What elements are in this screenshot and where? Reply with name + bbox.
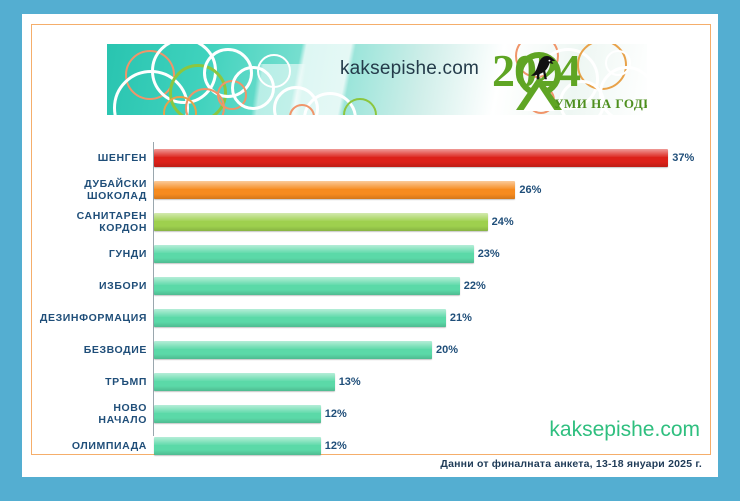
bar-value-label: 37%	[672, 149, 694, 167]
bar-shade	[154, 194, 515, 199]
bar-row: ШЕНГЕН37%	[31, 142, 711, 174]
bar-value-label: 22%	[464, 277, 486, 295]
bar-wrapper: 12%	[154, 437, 321, 455]
bar-gloss	[154, 373, 335, 381]
banner-site-title: kaksepishe.com	[340, 58, 479, 80]
bar-shade	[154, 354, 432, 359]
bar-row: ТРЪМП13%	[31, 366, 711, 398]
bar-value-label: 26%	[519, 181, 541, 199]
bar[interactable]	[154, 245, 474, 263]
bar-shade	[154, 162, 668, 167]
bar-shade	[154, 450, 321, 455]
bar[interactable]	[154, 309, 446, 327]
bar-category-label: ТРЪМП	[31, 366, 147, 398]
bar[interactable]	[154, 277, 460, 295]
logo-triangle-inner	[523, 87, 555, 111]
bar-wrapper: 24%	[154, 213, 488, 231]
bar-shade	[154, 258, 474, 263]
bar-value-label: 24%	[492, 213, 514, 231]
bar-wrapper: 22%	[154, 277, 460, 295]
bar-category-label: НОВОНАЧАЛО	[31, 398, 147, 430]
bar-category-label: БЕЗВОДИЕ	[31, 334, 147, 366]
bar-wrapper: 21%	[154, 309, 446, 327]
bar-gloss	[154, 309, 446, 317]
bar-row: САНИТАРЕНКОРДОН24%	[31, 206, 711, 238]
bar-row: ДУБАЙСКИШОКОЛАД26%	[31, 174, 711, 206]
bar-wrapper: 20%	[154, 341, 432, 359]
bar-gloss	[154, 277, 460, 285]
bar-wrapper: 13%	[154, 373, 335, 391]
bar[interactable]	[154, 181, 515, 199]
bar-shade	[154, 386, 335, 391]
bar[interactable]	[154, 213, 488, 231]
bar-row: ДЕЗИНФОРМАЦИЯ21%	[31, 302, 711, 334]
bar-gloss	[154, 245, 474, 253]
bar[interactable]	[154, 341, 432, 359]
bar-category-label: ИЗБОРИ	[31, 270, 147, 302]
words-of-the-year-logo[interactable]: 2024 УМИ НА ГОДИНАТА	[492, 46, 647, 115]
bar[interactable]	[154, 149, 668, 167]
bar-row: ГУНДИ23%	[31, 238, 711, 270]
bar-row: ИЗБОРИ22%	[31, 270, 711, 302]
bar-shade	[154, 290, 460, 295]
bar[interactable]	[154, 373, 335, 391]
bar-gloss	[154, 181, 515, 189]
bird-icon	[520, 52, 564, 88]
bar[interactable]	[154, 437, 321, 455]
bar-value-label: 23%	[478, 245, 500, 263]
bar-gloss	[154, 341, 432, 349]
bar-wrapper: 37%	[154, 149, 668, 167]
bar-value-label: 12%	[325, 405, 347, 423]
bar-shade	[154, 226, 488, 231]
bar-wrapper: 26%	[154, 181, 515, 199]
bar-gloss	[154, 213, 488, 221]
footer-brand[interactable]: kaksepishe.com	[549, 418, 700, 442]
footer-source-note: Данни от финалната анкета, 13-18 януари …	[440, 458, 702, 470]
bar-row: БЕЗВОДИЕ20%	[31, 334, 711, 366]
bar[interactable]	[154, 405, 321, 423]
bar-value-label: 20%	[436, 341, 458, 359]
decor-circle	[257, 54, 291, 88]
bar-shade	[154, 322, 446, 327]
bar-category-label: ОЛИМПИАДА	[31, 430, 147, 462]
bar-gloss	[154, 405, 321, 413]
bar-value-label: 21%	[450, 309, 472, 327]
bar-category-label: ДЕЗИНФОРМАЦИЯ	[31, 302, 147, 334]
bar-category-label: ДУБАЙСКИШОКОЛАД	[31, 174, 147, 206]
poster-root: kaksepishe.com 2024 УМИ НА ГОДИНАТА ШЕНГ…	[0, 0, 740, 501]
bar-category-label: ГУНДИ	[31, 238, 147, 270]
bar-shade	[154, 418, 321, 423]
bar-wrapper: 23%	[154, 245, 474, 263]
bar-value-label: 13%	[339, 373, 361, 391]
bar-value-label: 12%	[325, 437, 347, 455]
logo-subtitle: УМИ НА ГОДИНАТА	[554, 96, 647, 112]
bar-gloss	[154, 437, 321, 445]
bar-chart: ШЕНГЕН37%ДУБАЙСКИШОКОЛАД26%САНИТАРЕНКОРД…	[31, 130, 711, 440]
bar-category-label: ШЕНГЕН	[31, 142, 147, 174]
bar-wrapper: 12%	[154, 405, 321, 423]
site-banner[interactable]: kaksepishe.com 2024 УМИ НА ГОДИНАТА	[107, 44, 647, 115]
bar-gloss	[154, 149, 668, 157]
bar-category-label: САНИТАРЕНКОРДОН	[31, 206, 147, 238]
